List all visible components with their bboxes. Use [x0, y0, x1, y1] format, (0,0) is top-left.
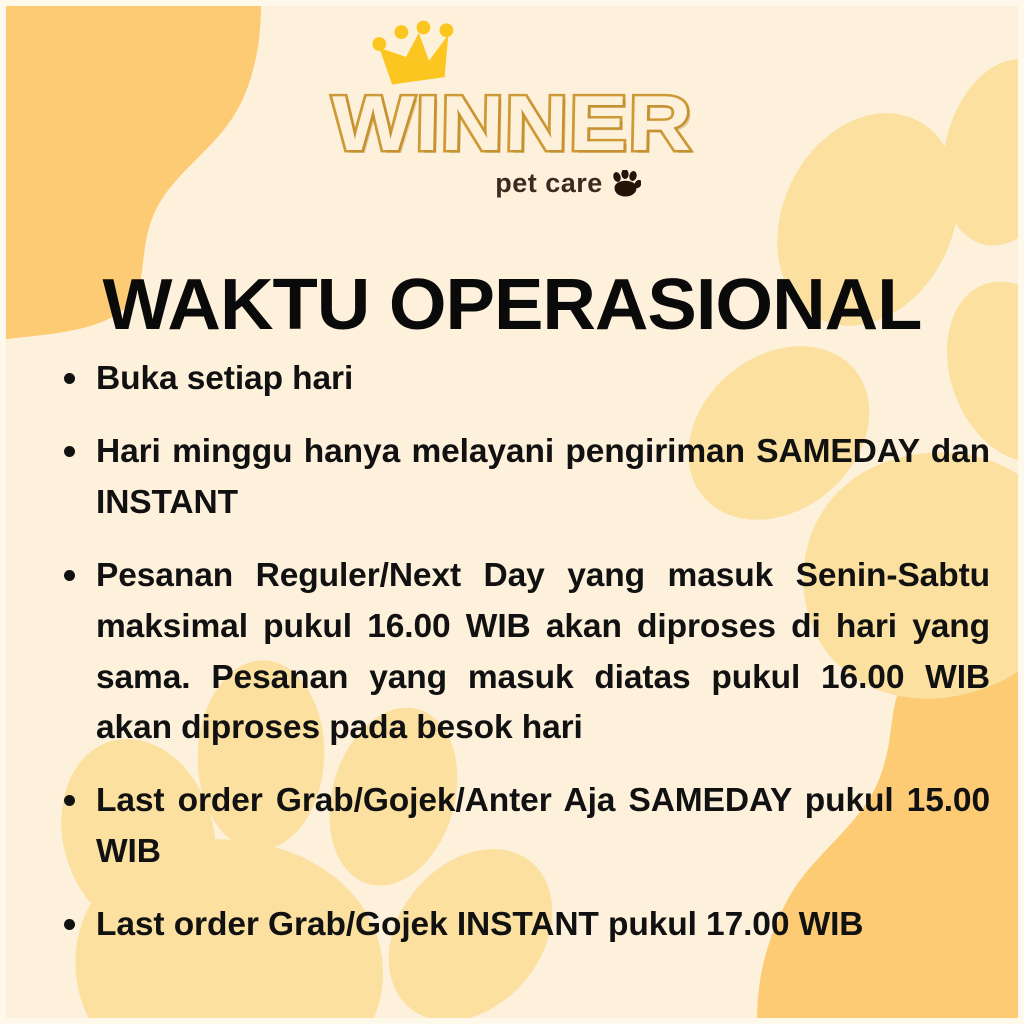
list-item: Pesanan Reguler/Next Day yang masuk Seni…: [58, 551, 990, 755]
brand-tagline-row: pet care: [495, 168, 641, 199]
list-item: Hari minggu hanya melayani pengiriman SA…: [58, 427, 990, 529]
paw-icon: [611, 170, 641, 198]
brand-logo: WINNER pet care: [6, 20, 1018, 199]
brand-name: WINNER: [331, 84, 694, 162]
poster-canvas: WINNER pet care WAKTU OPERASIONAL Buka s…: [0, 0, 1024, 1024]
list-item: Last order Grab/Gojek INSTANT pukul 17.0…: [58, 900, 990, 951]
list-item: Buka setiap hari: [58, 354, 990, 405]
operating-hours-list: Buka setiap hari Hari minggu hanya melay…: [58, 354, 990, 951]
list-item: Last order Grab/Gojek/Anter Aja SAMEDAY …: [58, 776, 990, 878]
page-title: WAKTU OPERASIONAL: [0, 268, 1024, 344]
brand-tagline: pet care: [495, 168, 603, 199]
